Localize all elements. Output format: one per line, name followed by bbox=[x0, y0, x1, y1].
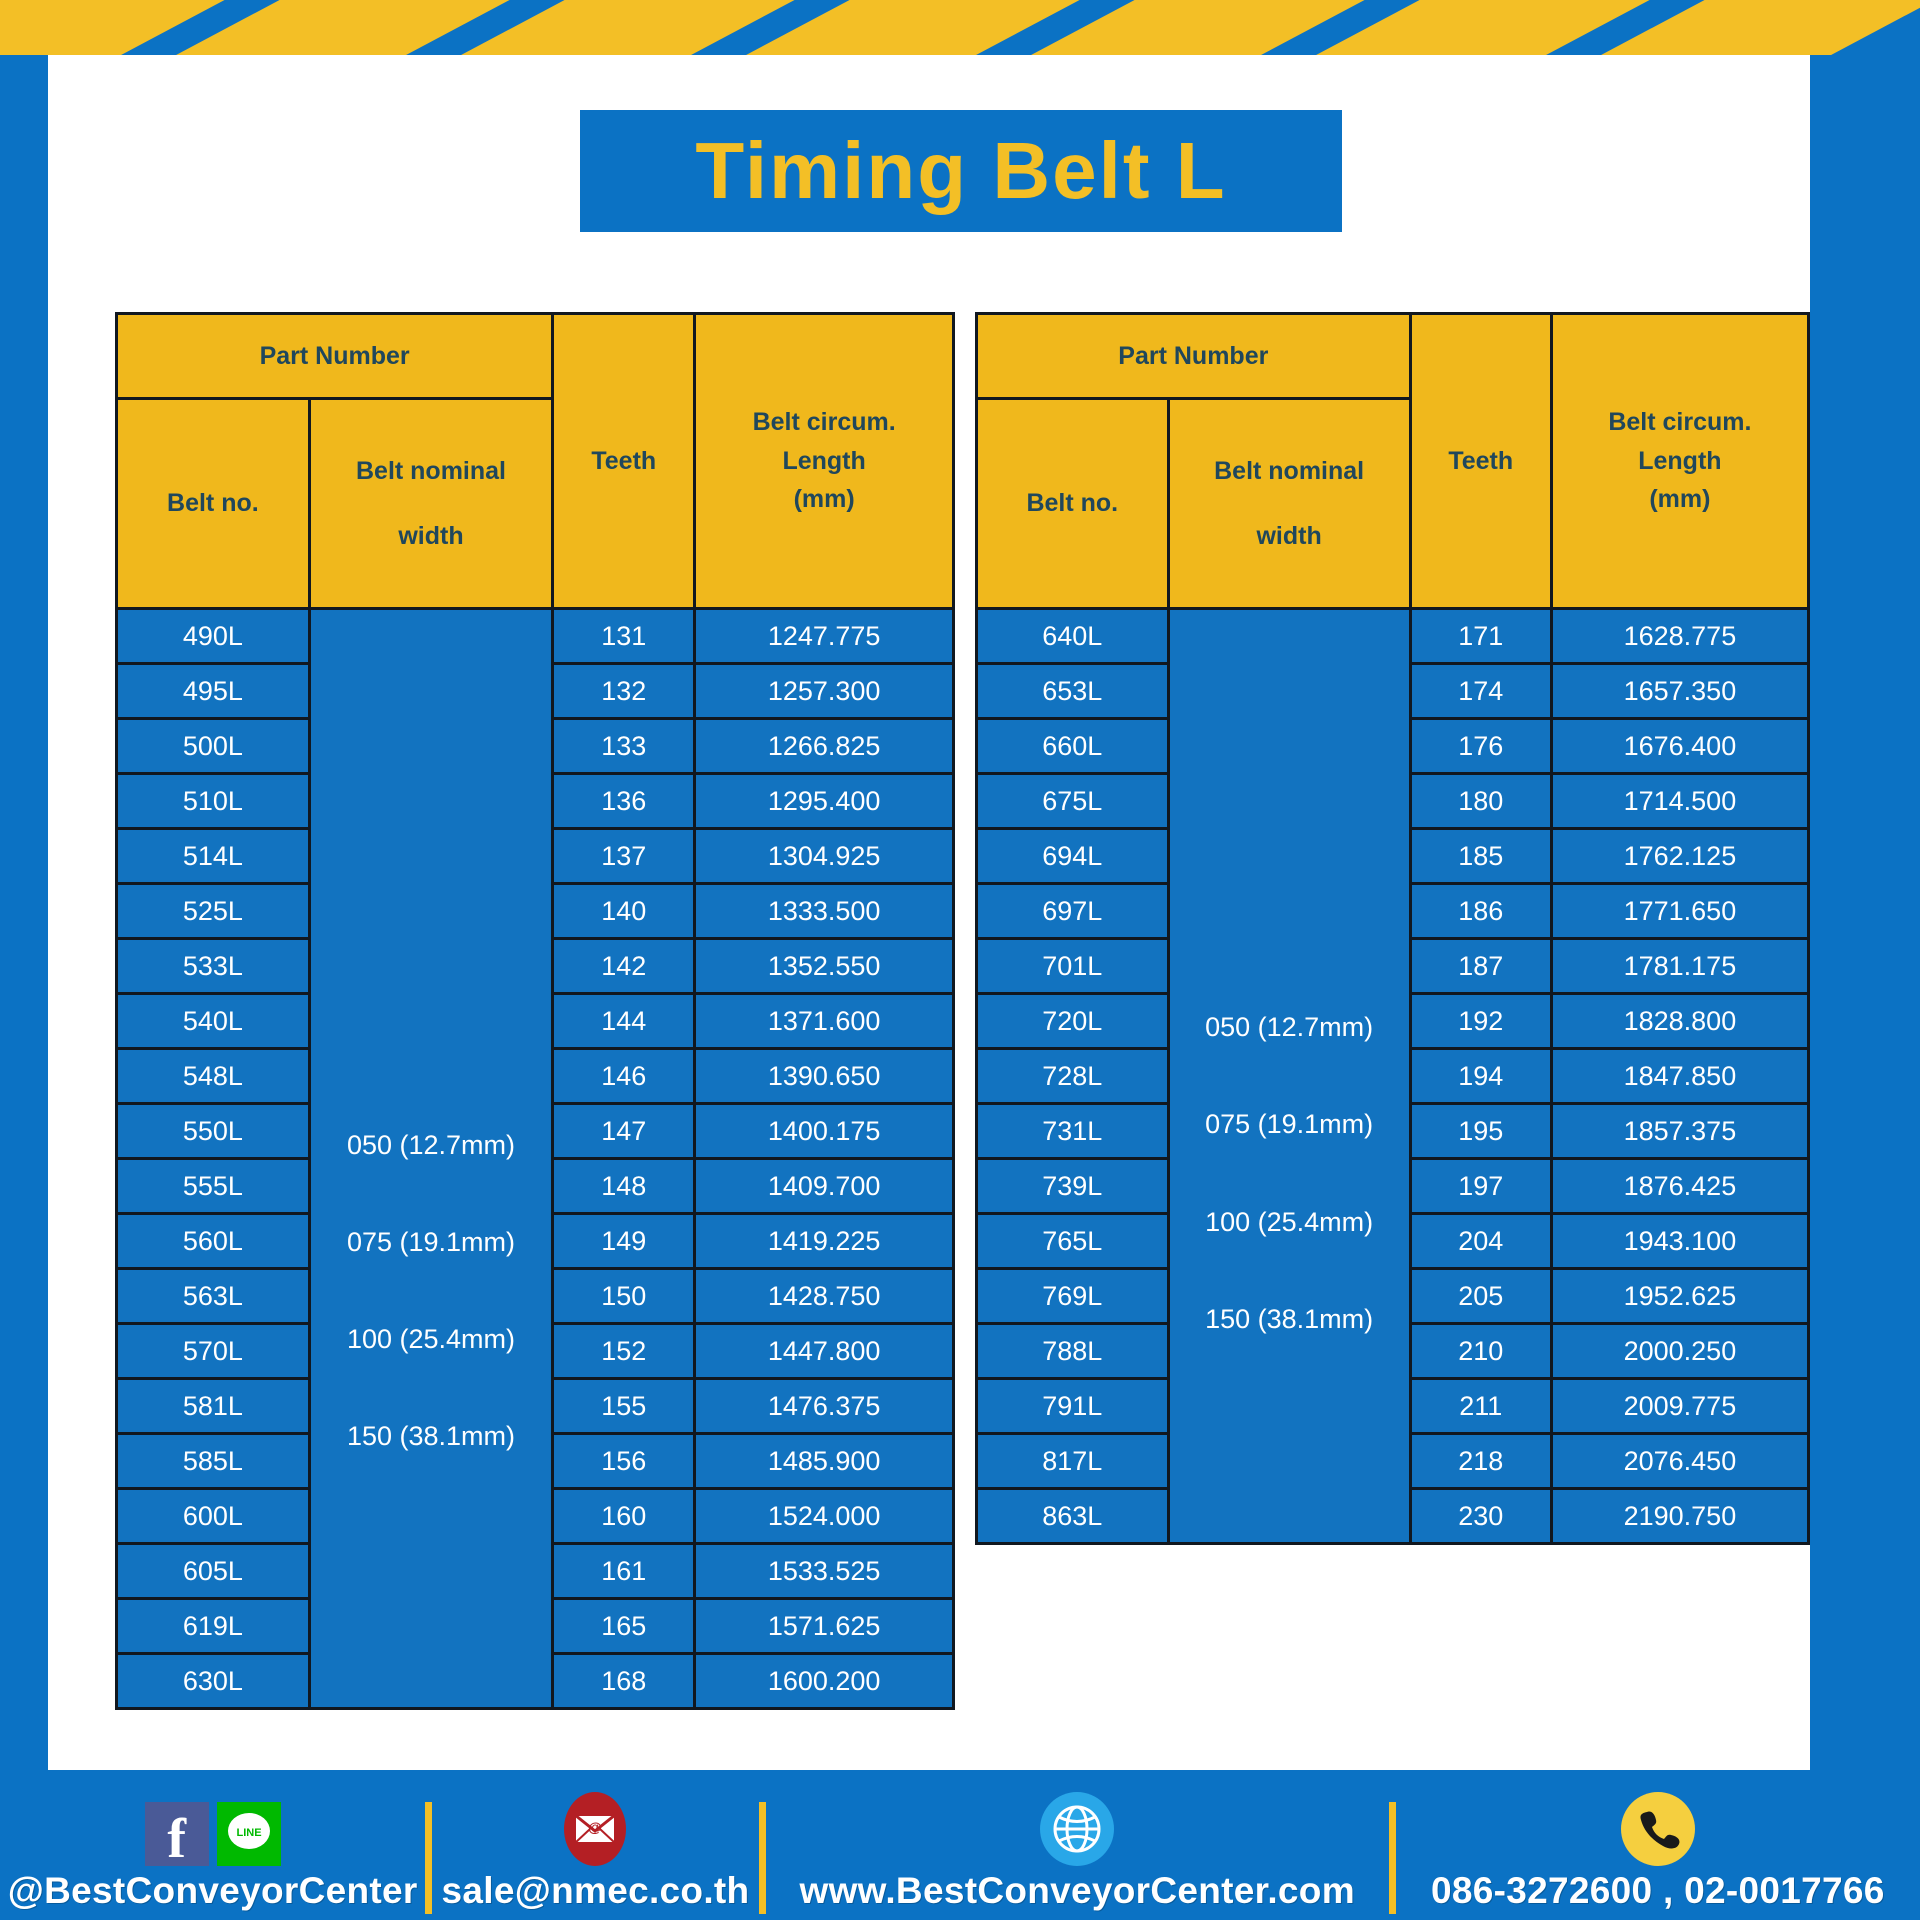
envelope-icon: @ bbox=[572, 1810, 618, 1848]
cell-teeth: 150 bbox=[553, 1269, 695, 1324]
cell-belt-length: 1247.775 bbox=[695, 609, 954, 664]
top-stripe-band bbox=[0, 0, 1920, 55]
cell-belt-length: 1447.800 bbox=[695, 1324, 954, 1379]
cell-teeth: 204 bbox=[1410, 1214, 1551, 1269]
cell-belt-length: 2009.775 bbox=[1551, 1379, 1808, 1434]
th-belt-circum-line1: Belt circum. bbox=[696, 403, 952, 442]
footer-social-handle[interactable]: @BestConveyorCenter bbox=[8, 1870, 418, 1912]
globe-glyph-icon bbox=[1048, 1800, 1106, 1858]
cell-belt-no: 548L bbox=[117, 1049, 310, 1104]
footer-divider bbox=[425, 1802, 432, 1914]
cell-belt-no: 581L bbox=[117, 1379, 310, 1434]
cell-belt-no: 540L bbox=[117, 994, 310, 1049]
footer-phone-text[interactable]: 086-3272600 , 02-0017766 bbox=[1431, 1870, 1885, 1912]
cell-belt-length: 1676.400 bbox=[1551, 719, 1808, 774]
cell-belt-no: 788L bbox=[977, 1324, 1169, 1379]
facebook-icon[interactable]: f bbox=[145, 1802, 209, 1866]
cell-teeth: 176 bbox=[1410, 719, 1551, 774]
cell-belt-length: 1257.300 bbox=[695, 664, 954, 719]
th-part-number: Part Number bbox=[977, 314, 1411, 399]
cell-belt-no: 605L bbox=[117, 1544, 310, 1599]
cell-teeth: 137 bbox=[553, 829, 695, 884]
cell-teeth: 211 bbox=[1410, 1379, 1551, 1434]
th-teeth: Teeth bbox=[553, 314, 695, 609]
th-width-line2: width bbox=[311, 517, 552, 556]
cell-belt-length: 1428.750 bbox=[695, 1269, 954, 1324]
cell-teeth: 133 bbox=[553, 719, 695, 774]
page-title: Timing Belt L bbox=[695, 131, 1226, 211]
cell-belt-length: 1771.650 bbox=[1551, 884, 1808, 939]
footer-email-icons: @ bbox=[564, 1792, 626, 1866]
th-belt-nominal-width: Belt nominal width bbox=[1168, 399, 1410, 609]
cell-belt-no: 510L bbox=[117, 774, 310, 829]
cell-teeth: 156 bbox=[553, 1434, 695, 1489]
th-teeth: Teeth bbox=[1410, 314, 1551, 609]
cell-teeth: 131 bbox=[553, 609, 695, 664]
cell-teeth: 205 bbox=[1410, 1269, 1551, 1324]
belt-table-right: Part Number Teeth Belt circum. Length (m… bbox=[975, 312, 1810, 1545]
cell-teeth: 144 bbox=[553, 994, 695, 1049]
cell-teeth: 218 bbox=[1410, 1434, 1551, 1489]
th-part-number: Part Number bbox=[117, 314, 553, 399]
belt-table-left: Part Number Teeth Belt circum. Length (m… bbox=[115, 312, 955, 1710]
width-option: 150 (38.1mm) bbox=[311, 1388, 552, 1485]
cell-belt-length: 1400.175 bbox=[695, 1104, 954, 1159]
footer-contact-bar: f LINE @BestConveyorCenter bbox=[0, 1770, 1920, 1920]
th-belt-circum-line1: Belt circum. bbox=[1553, 403, 1807, 442]
cell-teeth: 230 bbox=[1410, 1489, 1551, 1544]
width-option: 075 (19.1mm) bbox=[311, 1194, 552, 1291]
cell-belt-no: 560L bbox=[117, 1214, 310, 1269]
cell-belt-length: 1409.700 bbox=[695, 1159, 954, 1214]
cell-belt-no: 720L bbox=[977, 994, 1169, 1049]
cell-belt-length: 1524.000 bbox=[695, 1489, 954, 1544]
cell-belt-nominal-width: 050 (12.7mm)075 (19.1mm)100 (25.4mm)150 … bbox=[1168, 609, 1410, 1544]
cell-teeth: 194 bbox=[1410, 1049, 1551, 1104]
cell-belt-length: 1333.500 bbox=[695, 884, 954, 939]
cell-belt-length: 1304.925 bbox=[695, 829, 954, 884]
cell-belt-length: 2000.250 bbox=[1551, 1324, 1808, 1379]
cell-teeth: 165 bbox=[553, 1599, 695, 1654]
width-option: 150 (38.1mm) bbox=[1170, 1271, 1409, 1368]
th-belt-nominal-width: Belt nominal width bbox=[309, 399, 553, 609]
footer-website: www.BestConveyorCenter.com bbox=[766, 1770, 1389, 1920]
table-header-row-top: Part Number Teeth Belt circum. Length (m… bbox=[117, 314, 954, 399]
table-row: 640L050 (12.7mm)075 (19.1mm)100 (25.4mm)… bbox=[977, 609, 1809, 664]
cell-belt-no: 585L bbox=[117, 1434, 310, 1489]
cell-belt-no: 731L bbox=[977, 1104, 1169, 1159]
cell-teeth: 149 bbox=[553, 1214, 695, 1269]
cell-belt-length: 1390.650 bbox=[695, 1049, 954, 1104]
cell-belt-length: 1857.375 bbox=[1551, 1104, 1808, 1159]
cell-teeth: 160 bbox=[553, 1489, 695, 1544]
line-icon[interactable]: LINE bbox=[217, 1802, 281, 1866]
cell-belt-no: 653L bbox=[977, 664, 1169, 719]
cell-belt-length: 1657.350 bbox=[1551, 664, 1808, 719]
cell-belt-no: 525L bbox=[117, 884, 310, 939]
cell-belt-length: 1533.525 bbox=[695, 1544, 954, 1599]
footer-social-icons: f LINE bbox=[145, 1802, 281, 1866]
cell-belt-length: 1943.100 bbox=[1551, 1214, 1808, 1269]
footer-divider bbox=[759, 1802, 766, 1914]
footer-email-text[interactable]: sale@nmec.co.th bbox=[442, 1870, 750, 1912]
cell-teeth: 171 bbox=[1410, 609, 1551, 664]
cell-belt-length: 1600.200 bbox=[695, 1654, 954, 1709]
footer-website-icons bbox=[1040, 1792, 1114, 1866]
footer-email: @ sale@nmec.co.th bbox=[432, 1770, 758, 1920]
width-option: 050 (12.7mm) bbox=[311, 1097, 552, 1194]
cell-teeth: 161 bbox=[553, 1544, 695, 1599]
cell-belt-length: 2190.750 bbox=[1551, 1489, 1808, 1544]
th-belt-circum: Belt circum. Length (mm) bbox=[1551, 314, 1808, 609]
th-width-line1: Belt nominal bbox=[311, 452, 552, 491]
poster-root: Timing Belt L Part Number Teeth Belt cir… bbox=[0, 0, 1920, 1920]
cell-belt-no: 619L bbox=[117, 1599, 310, 1654]
cell-teeth: 210 bbox=[1410, 1324, 1551, 1379]
th-width-line1: Belt nominal bbox=[1170, 452, 1409, 491]
th-belt-circum-line3: (mm) bbox=[1553, 480, 1807, 519]
cell-belt-length: 2076.450 bbox=[1551, 1434, 1808, 1489]
cell-belt-no: 694L bbox=[977, 829, 1169, 884]
cell-belt-no: 791L bbox=[977, 1379, 1169, 1434]
cell-belt-no: 570L bbox=[117, 1324, 310, 1379]
cell-belt-no: 863L bbox=[977, 1489, 1169, 1544]
facebook-glyph: f bbox=[167, 1813, 186, 1866]
cell-belt-no: 640L bbox=[977, 609, 1169, 664]
cell-belt-no: 701L bbox=[977, 939, 1169, 994]
cell-belt-no: 630L bbox=[117, 1654, 310, 1709]
cell-belt-no: 675L bbox=[977, 774, 1169, 829]
cell-belt-length: 1628.775 bbox=[1551, 609, 1808, 664]
cell-teeth: 152 bbox=[553, 1324, 695, 1379]
th-belt-no: Belt no. bbox=[117, 399, 310, 609]
cell-belt-length: 1371.600 bbox=[695, 994, 954, 1049]
th-belt-no: Belt no. bbox=[977, 399, 1169, 609]
width-option: 050 (12.7mm) bbox=[1170, 979, 1409, 1076]
line-bubble-icon: LINE bbox=[223, 1808, 275, 1860]
cell-belt-no: 600L bbox=[117, 1489, 310, 1544]
svg-text:LINE: LINE bbox=[236, 1827, 261, 1839]
cell-teeth: 185 bbox=[1410, 829, 1551, 884]
cell-teeth: 186 bbox=[1410, 884, 1551, 939]
cell-teeth: 192 bbox=[1410, 994, 1551, 1049]
cell-belt-nominal-width: 050 (12.7mm)075 (19.1mm)100 (25.4mm)150 … bbox=[309, 609, 553, 1709]
cell-belt-no: 490L bbox=[117, 609, 310, 664]
cell-belt-length: 1419.225 bbox=[695, 1214, 954, 1269]
cell-belt-length: 1952.625 bbox=[1551, 1269, 1808, 1324]
cell-belt-no: 500L bbox=[117, 719, 310, 774]
cell-belt-length: 1476.375 bbox=[695, 1379, 954, 1434]
cell-belt-no: 769L bbox=[977, 1269, 1169, 1324]
th-belt-circum-line2: Length bbox=[696, 442, 952, 481]
cell-belt-length: 1295.400 bbox=[695, 774, 954, 829]
table-body-left: 490L050 (12.7mm)075 (19.1mm)100 (25.4mm)… bbox=[117, 609, 954, 1709]
cell-teeth: 136 bbox=[553, 774, 695, 829]
cell-belt-no: 495L bbox=[117, 664, 310, 719]
cell-belt-length: 1781.175 bbox=[1551, 939, 1808, 994]
cell-belt-no: 555L bbox=[117, 1159, 310, 1214]
page-title-box: Timing Belt L bbox=[580, 110, 1342, 232]
cell-belt-length: 1266.825 bbox=[695, 719, 954, 774]
width-option: 075 (19.1mm) bbox=[1170, 1076, 1409, 1173]
cell-belt-length: 1352.550 bbox=[695, 939, 954, 994]
cell-belt-no: 765L bbox=[977, 1214, 1169, 1269]
cell-belt-length: 1571.625 bbox=[695, 1599, 954, 1654]
cell-teeth: 197 bbox=[1410, 1159, 1551, 1214]
width-option: 100 (25.4mm) bbox=[1170, 1174, 1409, 1271]
cell-teeth: 148 bbox=[553, 1159, 695, 1214]
cell-belt-no: 817L bbox=[977, 1434, 1169, 1489]
table-body-right: 640L050 (12.7mm)075 (19.1mm)100 (25.4mm)… bbox=[977, 609, 1809, 1544]
footer-phone-icons bbox=[1621, 1792, 1695, 1866]
width-option: 100 (25.4mm) bbox=[311, 1291, 552, 1388]
table-row: 490L050 (12.7mm)075 (19.1mm)100 (25.4mm)… bbox=[117, 609, 954, 664]
cell-teeth: 155 bbox=[553, 1379, 695, 1434]
cell-belt-length: 1847.850 bbox=[1551, 1049, 1808, 1104]
cell-belt-length: 1876.425 bbox=[1551, 1159, 1808, 1214]
cell-teeth: 147 bbox=[553, 1104, 695, 1159]
cell-belt-no: 739L bbox=[977, 1159, 1169, 1214]
cell-teeth: 174 bbox=[1410, 664, 1551, 719]
cell-teeth: 146 bbox=[553, 1049, 695, 1104]
cell-teeth: 140 bbox=[553, 884, 695, 939]
cell-belt-length: 1762.125 bbox=[1551, 829, 1808, 884]
cell-belt-no: 728L bbox=[977, 1049, 1169, 1104]
th-belt-circum: Belt circum. Length (mm) bbox=[695, 314, 954, 609]
cell-teeth: 168 bbox=[553, 1654, 695, 1709]
th-width-line2: width bbox=[1170, 517, 1409, 556]
cell-belt-no: 514L bbox=[117, 829, 310, 884]
cell-teeth: 132 bbox=[553, 664, 695, 719]
cell-teeth: 195 bbox=[1410, 1104, 1551, 1159]
footer-phone: 086-3272600 , 02-0017766 bbox=[1396, 1770, 1920, 1920]
cell-teeth: 142 bbox=[553, 939, 695, 994]
handset-icon bbox=[1636, 1807, 1680, 1851]
cell-belt-length: 1485.900 bbox=[695, 1434, 954, 1489]
svg-text:@: @ bbox=[589, 1819, 603, 1835]
th-belt-circum-line2: Length bbox=[1553, 442, 1807, 481]
footer-divider bbox=[1389, 1802, 1396, 1914]
cell-teeth: 187 bbox=[1410, 939, 1551, 994]
footer-social: f LINE @BestConveyorCenter bbox=[0, 1770, 425, 1920]
cell-belt-no: 550L bbox=[117, 1104, 310, 1159]
cell-belt-no: 563L bbox=[117, 1269, 310, 1324]
phone-icon[interactable] bbox=[1621, 1792, 1695, 1866]
email-icon[interactable]: @ bbox=[564, 1792, 626, 1866]
cell-belt-length: 1714.500 bbox=[1551, 774, 1808, 829]
cell-teeth: 180 bbox=[1410, 774, 1551, 829]
globe-icon[interactable] bbox=[1040, 1792, 1114, 1866]
cell-belt-no: 697L bbox=[977, 884, 1169, 939]
table-header-row-top: Part Number Teeth Belt circum. Length (m… bbox=[977, 314, 1809, 399]
footer-website-text[interactable]: www.BestConveyorCenter.com bbox=[799, 1870, 1354, 1912]
th-belt-circum-line3: (mm) bbox=[696, 480, 952, 519]
cell-belt-no: 660L bbox=[977, 719, 1169, 774]
cell-belt-length: 1828.800 bbox=[1551, 994, 1808, 1049]
cell-belt-no: 533L bbox=[117, 939, 310, 994]
